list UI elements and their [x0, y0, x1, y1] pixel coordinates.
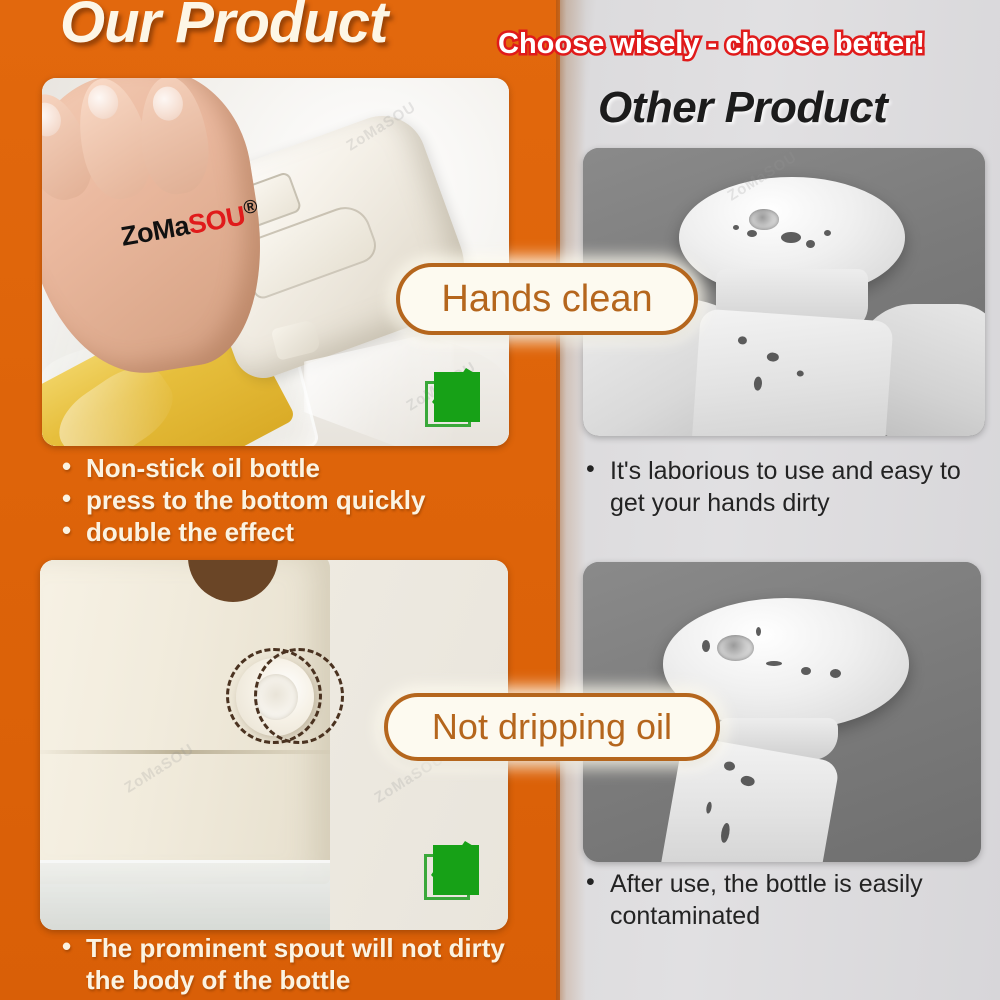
oil-stain: [737, 336, 747, 345]
list-item: The prominent spout will not dirty the b…: [58, 932, 538, 996]
checkmark-badge-bottom: [424, 854, 470, 900]
hands-clean-label: Hands clean: [441, 278, 652, 321]
oil-stain: [767, 352, 780, 362]
oil-stain: [801, 667, 811, 675]
other-product-drawbacks-bottom: After use, the bottle is easily contamin…: [582, 868, 992, 932]
list-item: After use, the bottle is easily contamin…: [582, 868, 992, 932]
list-item: Non-stick oil bottle: [58, 452, 538, 484]
other-product-drawbacks-top: It's laborious to use and easy to get yo…: [582, 455, 992, 519]
fingernail-2: [85, 82, 122, 122]
not-dripping-label: Not dripping oil: [432, 706, 672, 748]
oil-stain: [705, 801, 712, 814]
other-bottle-body: [691, 308, 893, 436]
oil-stain: [796, 371, 803, 377]
list-item: press to the bottom quickly: [58, 484, 538, 516]
oil-stain: [781, 232, 801, 243]
our-product-benefits-top: Non-stick oil bottle press to the bottom…: [58, 452, 538, 548]
product-comparison-poster: Our Product Other Product Choose wisely …: [0, 0, 1000, 1000]
check-icon: [420, 368, 486, 430]
other-cap-knob: [717, 635, 754, 661]
hands-clean-badge: Hands clean: [396, 263, 698, 335]
oil-stain: [756, 627, 761, 636]
cap-seam-line: [40, 750, 330, 754]
tagline-banner: Choose wisely - choose better!: [498, 26, 998, 62]
other-product-heading: Other Product: [598, 82, 998, 134]
our-product-heading: Our Product: [60, 0, 520, 54]
list-item: It's laborious to use and easy to get yo…: [582, 455, 992, 519]
oil-stain: [733, 225, 739, 230]
oil-stain: [824, 230, 831, 236]
oil-stain: [753, 376, 762, 391]
fingernail-3: [151, 85, 185, 122]
oil-stain: [747, 230, 757, 237]
checkmark-badge-top: [425, 381, 471, 427]
other-cap-knob: [749, 209, 778, 230]
highlight-circle-front: [254, 648, 344, 744]
oil-stain: [766, 661, 782, 666]
oil-stain: [830, 669, 841, 678]
check-icon: [419, 841, 485, 903]
oil-stain: [739, 775, 755, 787]
glass-bottle-base: [40, 860, 330, 930]
oil-stain: [722, 761, 734, 772]
our-product-benefits-bottom: The prominent spout will not dirty the b…: [58, 932, 538, 996]
list-item: double the effect: [58, 516, 538, 548]
not-dripping-badge: Not dripping oil: [384, 693, 720, 761]
oil-stain: [719, 823, 730, 844]
fingernail-1: [42, 99, 65, 140]
oil-stain: [806, 240, 815, 248]
oil-stain: [702, 640, 710, 652]
